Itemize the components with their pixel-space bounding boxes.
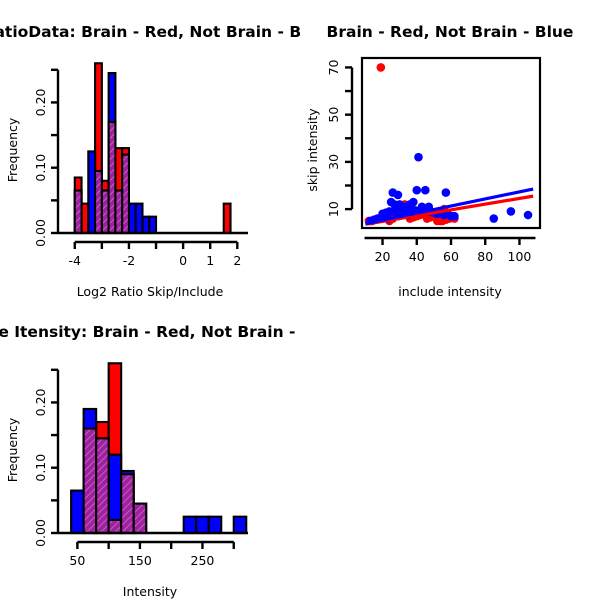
x-tick-label: 50 xyxy=(69,553,85,568)
x-tick-label: -2 xyxy=(123,253,135,268)
x-tick-label: 60 xyxy=(443,249,459,264)
intensity-scatter-svg: Brain - Red, Not Brain - Blue 1030507020… xyxy=(300,0,600,300)
intensity-scatter-title: Brain - Red, Not Brain - Blue xyxy=(327,23,574,41)
scatter-point xyxy=(524,211,533,220)
histogram-bar xyxy=(209,517,222,533)
histogram-bar xyxy=(122,155,129,233)
intensity-histogram-xlabel: Intensity xyxy=(123,584,178,599)
scatter-point xyxy=(409,198,418,207)
x-tick-label: 2 xyxy=(233,253,241,268)
y-tick-label: 10 xyxy=(326,201,341,217)
x-tick-label: 250 xyxy=(191,553,215,568)
panel-annotation: G7239069@J946472@j_ alt5Prime Hyou1 chr9… xyxy=(300,300,600,600)
y-tick-label: 0.20 xyxy=(33,388,48,416)
panel-intensity-histogram: ne Itensity: Brain - Red, Not Brain - B … xyxy=(0,300,300,600)
y-tick-label: 70 xyxy=(326,59,341,75)
x-tick-label: 0 xyxy=(179,253,187,268)
histogram-bar xyxy=(224,204,231,233)
x-tick-label: 40 xyxy=(409,249,425,264)
intensity-histogram-title: ne Itensity: Brain - Red, Not Brain - B xyxy=(0,323,300,341)
ratio-histogram-plot-area: 0.000.100.20-4-2012 xyxy=(33,63,248,268)
x-tick-label: 20 xyxy=(375,249,391,264)
scatter-point xyxy=(394,191,403,200)
y-tick-label: 50 xyxy=(326,107,341,123)
histogram-bar xyxy=(234,517,247,533)
intensity-scatter-ylabel: skip intensity xyxy=(305,108,320,192)
scatter-point xyxy=(507,207,516,216)
x-tick-label: 100 xyxy=(508,249,532,264)
intensity-histogram-plot-area: 0.000.100.2050150250 xyxy=(33,363,248,568)
histogram-bar xyxy=(184,517,197,533)
y-tick-label: 0.10 xyxy=(33,154,48,182)
scatter-point xyxy=(414,153,423,162)
histogram-bar xyxy=(121,474,134,533)
x-tick-label: 1 xyxy=(206,253,214,268)
y-tick-label: 0.20 xyxy=(33,88,48,116)
histogram-bar xyxy=(75,191,82,233)
scatter-point xyxy=(421,186,430,195)
intensity-histogram-svg: ne Itensity: Brain - Red, Not Brain - B … xyxy=(0,300,300,600)
ratio-histogram-xlabel: Log2 Ratio Skip/Include xyxy=(77,284,224,299)
ratio-histogram-title: RatioData: Brain - Red, Not Brain - Blu xyxy=(0,23,300,41)
histogram-bar xyxy=(134,504,147,533)
scatter-point xyxy=(489,214,498,223)
ratio-histogram-ylabel: Frequency xyxy=(5,117,20,182)
ratio-histogram-svg: RatioData: Brain - Red, Not Brain - Blu … xyxy=(0,0,300,300)
histogram-bar xyxy=(96,438,109,533)
plot-inner xyxy=(365,63,534,225)
intensity-scatter-plot-area: 1030507020406080100 xyxy=(326,58,540,264)
figure-canvas: RatioData: Brain - Red, Not Brain - Blu … xyxy=(0,0,600,600)
scatter-point xyxy=(377,63,386,72)
x-tick-label: 80 xyxy=(477,249,493,264)
y-tick-label: 30 xyxy=(326,154,341,170)
histogram-bar xyxy=(196,517,209,533)
histogram-bar xyxy=(149,217,156,233)
scatter-point xyxy=(442,188,451,197)
y-tick-label: 0.10 xyxy=(33,454,48,482)
panel-intensity-scatter: Brain - Red, Not Brain - Blue 1030507020… xyxy=(300,0,600,300)
histogram-bar xyxy=(84,429,97,533)
y-tick-label: 0.00 xyxy=(33,519,48,547)
panel-ratio-histogram: RatioData: Brain - Red, Not Brain - Blu … xyxy=(0,0,300,300)
histogram-bar xyxy=(71,491,84,533)
intensity-histogram-ylabel: Frequency xyxy=(5,417,20,482)
scatter-point xyxy=(412,186,421,195)
intensity-scatter-xlabel: include intensity xyxy=(398,284,502,299)
scatter-point xyxy=(450,212,459,221)
y-tick-label: 0.00 xyxy=(33,219,48,247)
histogram-bar xyxy=(109,520,122,533)
x-tick-label: 150 xyxy=(128,553,152,568)
x-tick-label: -4 xyxy=(69,253,82,268)
